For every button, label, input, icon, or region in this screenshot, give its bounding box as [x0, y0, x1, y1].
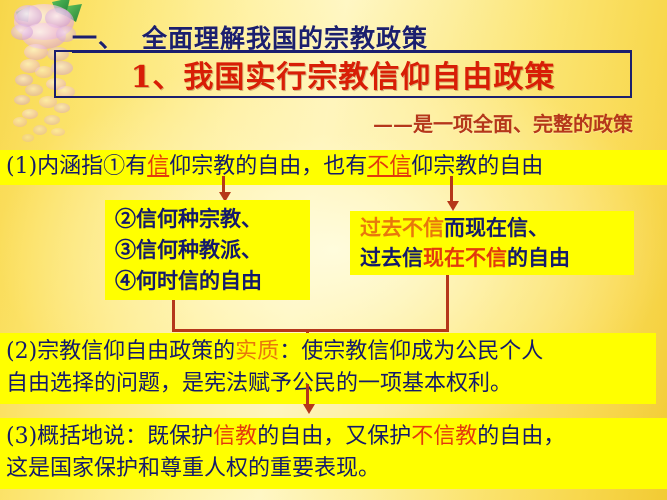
right-box-line-1: 过去不信而现在信、	[360, 213, 628, 243]
point-2-suffix: ：使宗教信仰成为公民个人	[279, 339, 543, 364]
point-1-text: (1)内涵指①有信仰宗教的自由，也有不信仰宗教的自由	[0, 150, 667, 185]
left-box-item-3: ③信何种教派、	[115, 234, 302, 265]
right-box-line-2: 过去信现在不信的自由	[360, 243, 628, 273]
point-3-suffix: 的自由，	[477, 424, 565, 449]
title-box: 1、我国实行宗教信仰自由政策	[54, 50, 632, 98]
point-2-highlight-essence: 实质	[235, 339, 279, 364]
subtitle: ——是一项全面、完整的政策	[373, 108, 633, 137]
right-box-line-2-highlight: 现在不信	[423, 245, 507, 270]
point-2-prefix: (2)宗教信仰自由政策的	[6, 339, 235, 364]
right-box-line-1-highlight: 过去不信	[360, 215, 444, 240]
point-3-prefix: (3)概括地说：既保护	[6, 424, 213, 449]
point-1-highlight-believe: 信	[147, 154, 169, 179]
right-box-line-2-lead: 过去信	[360, 245, 423, 270]
slide-canvas: 一、全面理解我国的宗教政策 1、我国实行宗教信仰自由政策 ——是一项全面、完整的…	[0, 0, 667, 500]
heading-number: 一、	[72, 24, 124, 53]
left-box-item-2: ②信何种宗教、	[115, 203, 302, 234]
title-box-text: 1、我国实行宗教信仰自由政策	[131, 52, 556, 96]
point-1-highlight-not-believe: 不信	[367, 154, 411, 179]
heading-text: 全面理解我国的宗教政策	[142, 24, 428, 53]
point-1-middle: 仰宗教的自由，也有	[169, 154, 367, 179]
point-3-line-2: 这是国家保护和尊重人权的重要表现。	[6, 453, 663, 485]
left-detail-box: ②信何种宗教、 ③信何种教派、 ④何时信的自由	[105, 200, 310, 300]
arrow-head-to-point-3	[303, 404, 315, 414]
point-2-line-2: 自由选择的问题，是宪法赋予公民的一项基本权利。	[6, 368, 652, 400]
point-3-highlight-not-believe: 不信教	[411, 424, 477, 449]
point-3-highlight-believe: 信教	[213, 424, 257, 449]
connector-bracket-bar	[172, 329, 449, 332]
arrow-head-to-right-box	[447, 201, 459, 211]
point-2-text: (2)宗教信仰自由政策的实质：使宗教信仰成为公民个人 自由选择的问题，是宪法赋予…	[0, 333, 656, 404]
connector-line-to-right-box	[450, 176, 453, 204]
point-3-line-1: (3)概括地说：既保护信教的自由，又保护不信教的自由，	[6, 421, 663, 453]
right-box-line-2-rest: 的自由	[507, 245, 570, 270]
point-3-text: (3)概括地说：既保护信教的自由，又保护不信教的自由， 这是国家保护和尊重人权的…	[0, 418, 667, 489]
right-detail-box: 过去不信而现在信、 过去信现在不信的自由	[350, 211, 634, 275]
point-1-suffix: 仰宗教的自由	[411, 154, 543, 179]
point-1-prefix: (1)内涵指①有	[6, 154, 147, 179]
point-2-line-1: (2)宗教信仰自由政策的实质：使宗教信仰成为公民个人	[6, 336, 652, 368]
connector-bracket-left-leg	[172, 300, 175, 332]
right-box-line-1-rest: 而现在信、	[444, 215, 549, 240]
point-3-middle: 的自由，又保护	[257, 424, 411, 449]
left-box-item-4: ④何时信的自由	[115, 265, 302, 296]
connector-line-to-point-3	[306, 384, 309, 406]
connector-bracket-right-leg	[446, 275, 449, 332]
